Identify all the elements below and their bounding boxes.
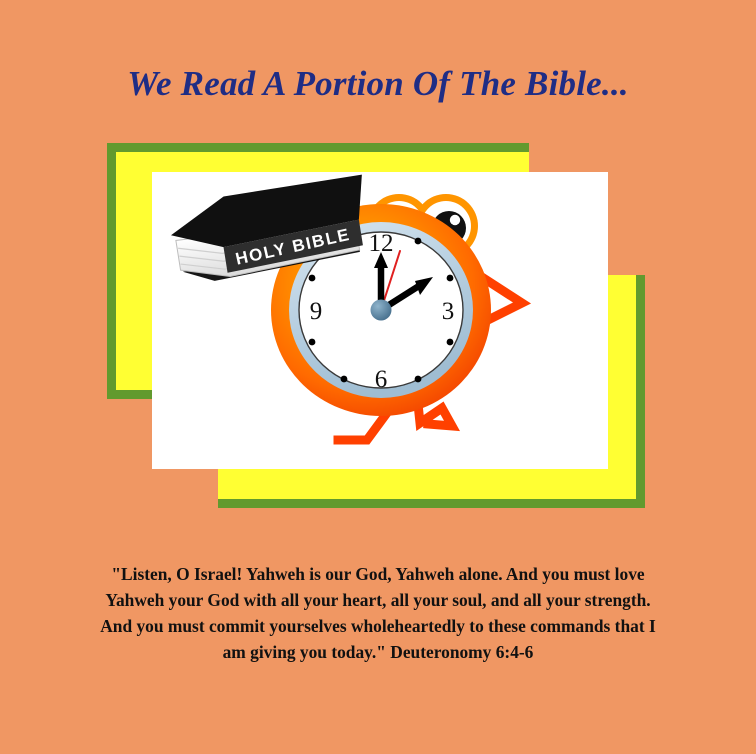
clock-number-9: 9 xyxy=(310,298,323,325)
clock-character-illustration: 12 3 6 9 xyxy=(152,172,608,469)
right-eye-highlight xyxy=(450,215,460,225)
photo-frame: 12 3 6 9 xyxy=(152,172,608,469)
scripture-caption: "Listen, O Israel! Yahweh is our God, Ya… xyxy=(95,561,661,665)
clock-number-3: 3 xyxy=(442,298,455,325)
picture-assembly: 12 3 6 9 xyxy=(0,0,756,540)
slide-canvas: We Read A Portion Of The Bible... xyxy=(0,0,756,754)
clock-center-pin xyxy=(371,300,392,321)
clock-number-6: 6 xyxy=(375,366,388,393)
